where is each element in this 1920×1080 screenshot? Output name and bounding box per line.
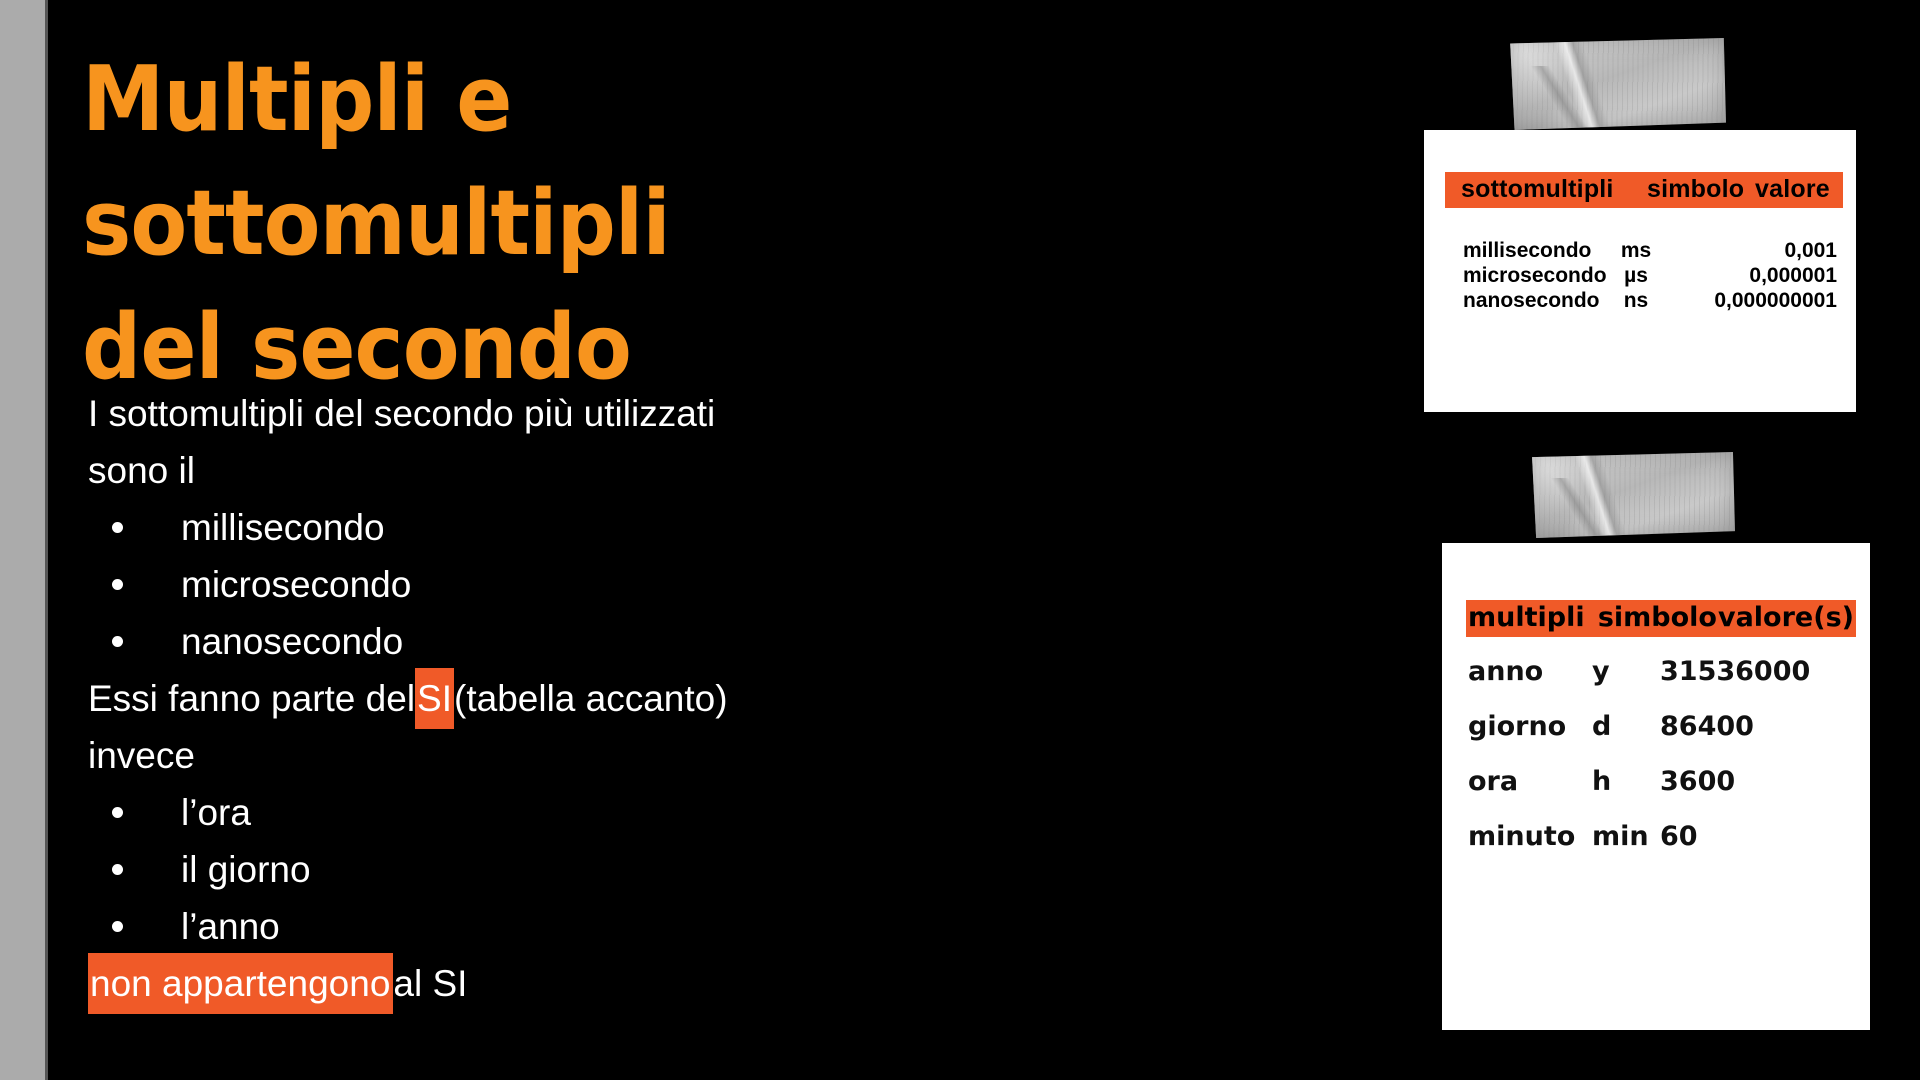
- bullet-dot-icon: [112, 636, 123, 647]
- cell-valore: 0,001: [1665, 238, 1837, 263]
- duct-tape-icon: [1508, 38, 1726, 130]
- list-item-label: microsecondo: [181, 556, 411, 613]
- si-line: Essi fanno parte del SI (tabella accanto…: [88, 670, 1108, 727]
- cell-simbolo: min: [1592, 821, 1652, 852]
- list-item: il giorno: [88, 841, 1108, 898]
- sottomultipli-table: sottomultipli simbolo valore millisecond…: [1445, 172, 1843, 313]
- table-row: minuto min 60: [1468, 821, 1856, 852]
- cell-valore: 0,000001: [1665, 263, 1837, 288]
- bullet-dot-icon: [112, 807, 123, 818]
- cell-simbolo: ns: [1607, 288, 1665, 313]
- bullet-dot-icon: [112, 522, 123, 533]
- duct-tape-icon: [1530, 452, 1735, 538]
- final-suffix: al SI: [393, 955, 467, 1012]
- si-highlight: SI: [415, 668, 454, 729]
- cell-valore: 31536000: [1652, 656, 1850, 687]
- cell-simbolo: ms: [1607, 238, 1665, 263]
- table-row: ora h 3600: [1468, 766, 1856, 797]
- list-item: microsecondo: [88, 556, 1108, 613]
- si-line-suffix: (tabella accanto): [454, 670, 728, 727]
- table-body: anno y 31536000 giorno d 86400 ora h 360…: [1466, 656, 1856, 852]
- cell-simbolo: h: [1592, 766, 1652, 797]
- list-item-label: il giorno: [181, 841, 311, 898]
- list-item-label: l’ora: [181, 784, 251, 841]
- list-item: l’anno: [88, 898, 1108, 955]
- column-header-simbolo: simbolo: [1598, 600, 1718, 636]
- intro-line-1: I sottomultipli del secondo più utilizza…: [88, 385, 1108, 442]
- list-item-label: millisecondo: [181, 499, 385, 556]
- multipli-table: multipli simbolo valore(s) anno y 315360…: [1466, 600, 1856, 876]
- table-body: millisecondo ms 0,001 microsecondo µs 0,…: [1445, 238, 1843, 313]
- cell-nome: millisecondo: [1463, 238, 1607, 263]
- table-row: giorno d 86400: [1468, 711, 1856, 742]
- cell-nome: anno: [1468, 656, 1592, 687]
- list-item: l’ora: [88, 784, 1108, 841]
- cell-valore: 86400: [1652, 711, 1850, 742]
- list-item-label: nanosecondo: [181, 613, 403, 670]
- left-gray-rail: [0, 0, 48, 1080]
- page-title: Multipli e sottomultipli del secondo: [82, 38, 1057, 410]
- column-header-valore: valore: [1755, 173, 1830, 206]
- cell-nome: ora: [1468, 766, 1592, 797]
- bullet-dot-icon: [112, 921, 123, 932]
- cell-valore: 60: [1652, 821, 1850, 852]
- list-item-label: l’anno: [181, 898, 280, 955]
- table-row: millisecondo ms 0,001: [1463, 238, 1843, 263]
- bullet-dot-icon: [112, 864, 123, 875]
- cell-nome: nanosecondo: [1463, 288, 1607, 313]
- list-item: millisecondo: [88, 499, 1108, 556]
- table-row: anno y 31536000: [1468, 656, 1856, 687]
- table-header-row: multipli simbolo valore(s): [1466, 600, 1856, 637]
- si-line-prefix: Essi fanno parte del: [88, 670, 415, 727]
- column-header-valore: valore(s): [1718, 600, 1854, 636]
- column-header-simbolo: simbolo: [1647, 173, 1755, 206]
- column-header-nome: sottomultipli: [1461, 173, 1647, 206]
- cell-valore: 0,000000001: [1665, 288, 1837, 313]
- table-header-row: sottomultipli simbolo valore: [1445, 172, 1843, 208]
- cell-nome: microsecondo: [1463, 263, 1607, 288]
- table-row: nanosecondo ns 0,000000001: [1463, 288, 1843, 313]
- cell-simbolo: µs: [1607, 263, 1665, 288]
- cell-valore: 3600: [1652, 766, 1850, 797]
- final-line: non appartengono al SI: [88, 955, 1108, 1012]
- bullet-dot-icon: [112, 579, 123, 590]
- table-row: microsecondo µs 0,000001: [1463, 263, 1843, 288]
- intro-line-2: sono il: [88, 442, 1108, 499]
- cell-simbolo: d: [1592, 711, 1652, 742]
- final-highlight: non appartengono: [88, 953, 393, 1014]
- cell-nome: minuto: [1468, 821, 1592, 852]
- list-item: nanosecondo: [88, 613, 1108, 670]
- column-header-nome: multipli: [1468, 600, 1598, 636]
- body-content: I sottomultipli del secondo più utilizza…: [88, 385, 1108, 1012]
- cell-simbolo: y: [1592, 656, 1652, 687]
- slide-root: Multipli e sottomultipli del secondo I s…: [0, 0, 1920, 1080]
- cell-nome: giorno: [1468, 711, 1592, 742]
- invece-line: invece: [88, 727, 1108, 784]
